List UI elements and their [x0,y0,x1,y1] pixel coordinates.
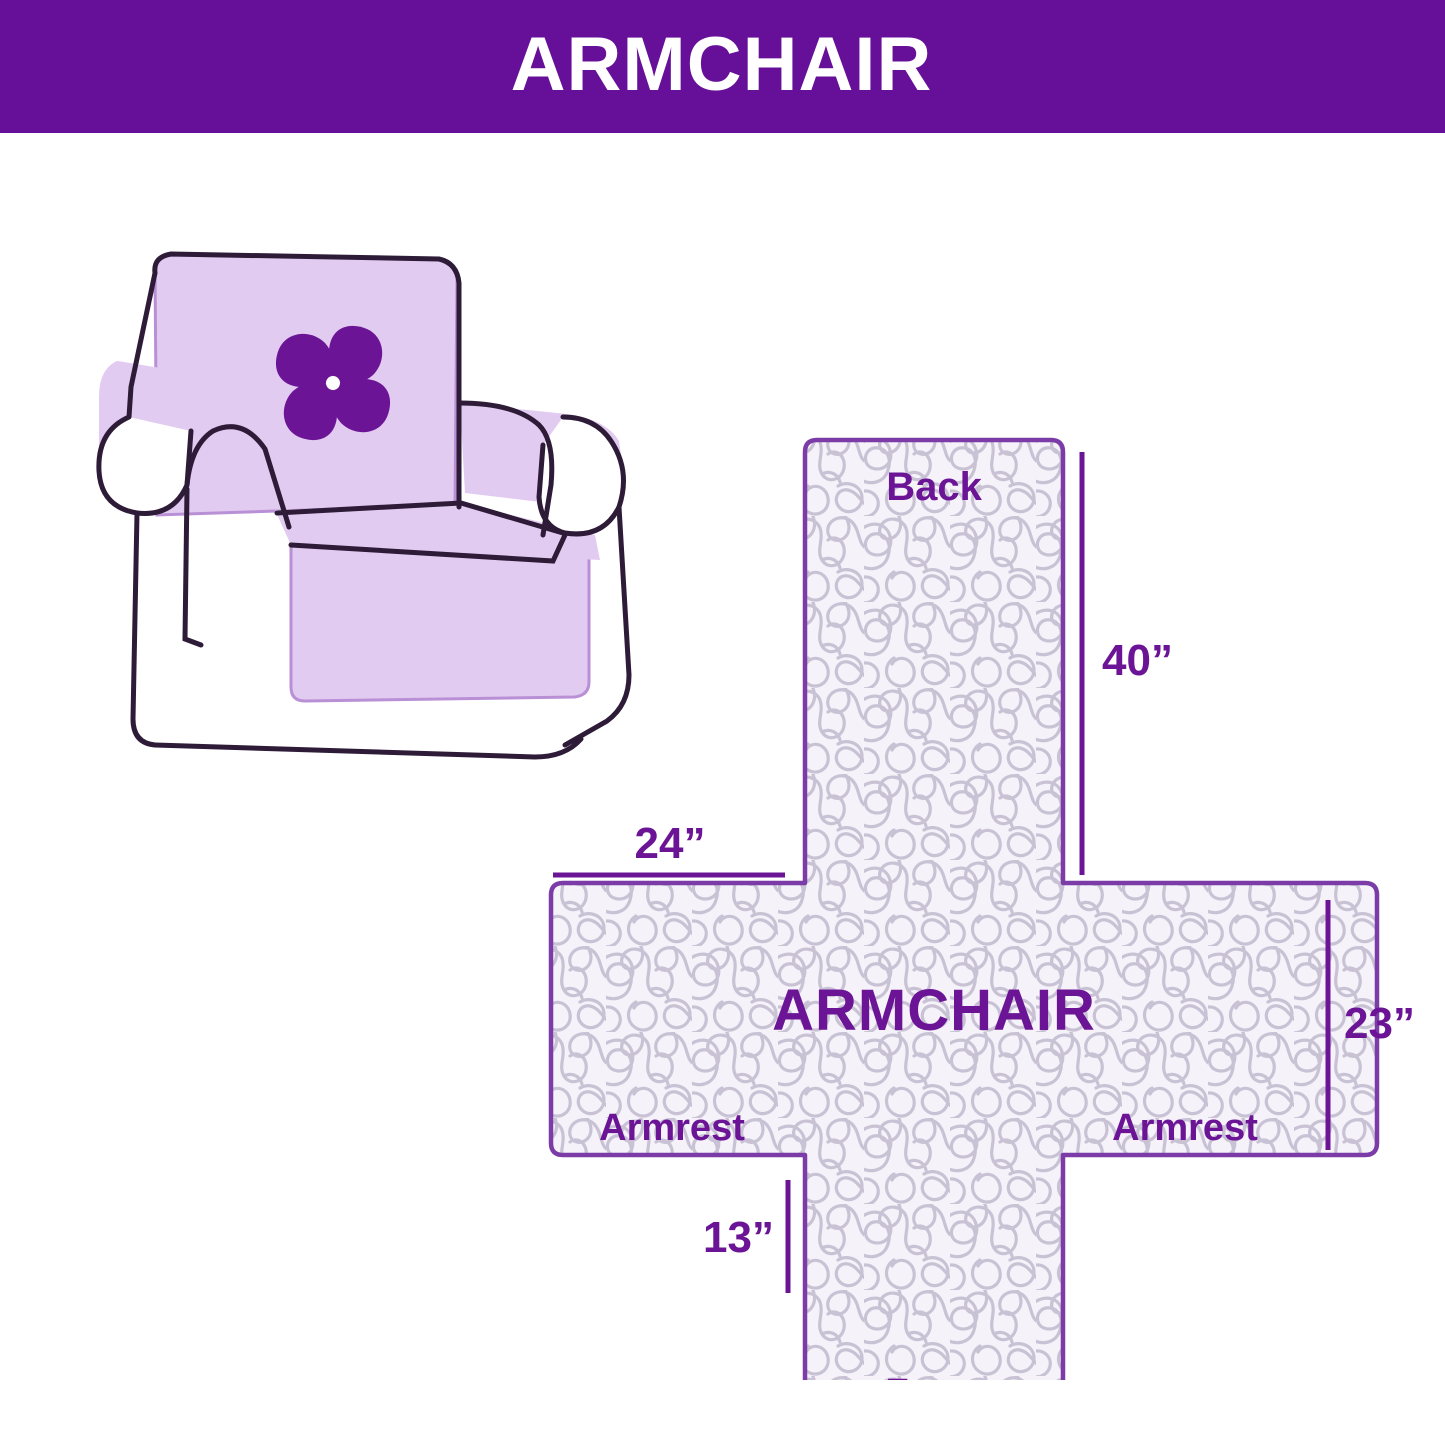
panel-label-armrest-right: Armrest [1112,1107,1258,1149]
page-title: ARMCHAIR [511,27,933,103]
panel-label-center: ARMCHAIR [772,978,1096,1043]
dimension-label-23: 23” [1344,999,1415,1048]
header-banner: ARMCHAIR [0,0,1445,133]
dimension-front-height: 13” [703,1180,788,1293]
chair-left-armroll [99,417,191,513]
panel-label-front: Front [885,1372,982,1380]
cross-body [520,430,1420,1380]
dimension-back-height: 40” [1082,452,1173,875]
pinwheel-fan-icon [276,326,390,440]
dimension-back-width: 24” [553,819,785,875]
panel-label-back: Back [886,465,982,509]
panel-label-armrest-left: Armrest [599,1107,745,1149]
dimension-label-13: 13” [703,1213,774,1262]
dimension-label-40: 40” [1102,636,1173,685]
page-root: ARMCHAIR [0,0,1445,1445]
dimension-label-24-top: 24” [635,819,706,868]
cover-cross-diagram: Back ARMCHAIR Armrest Armrest Front 40” … [520,430,1420,1380]
